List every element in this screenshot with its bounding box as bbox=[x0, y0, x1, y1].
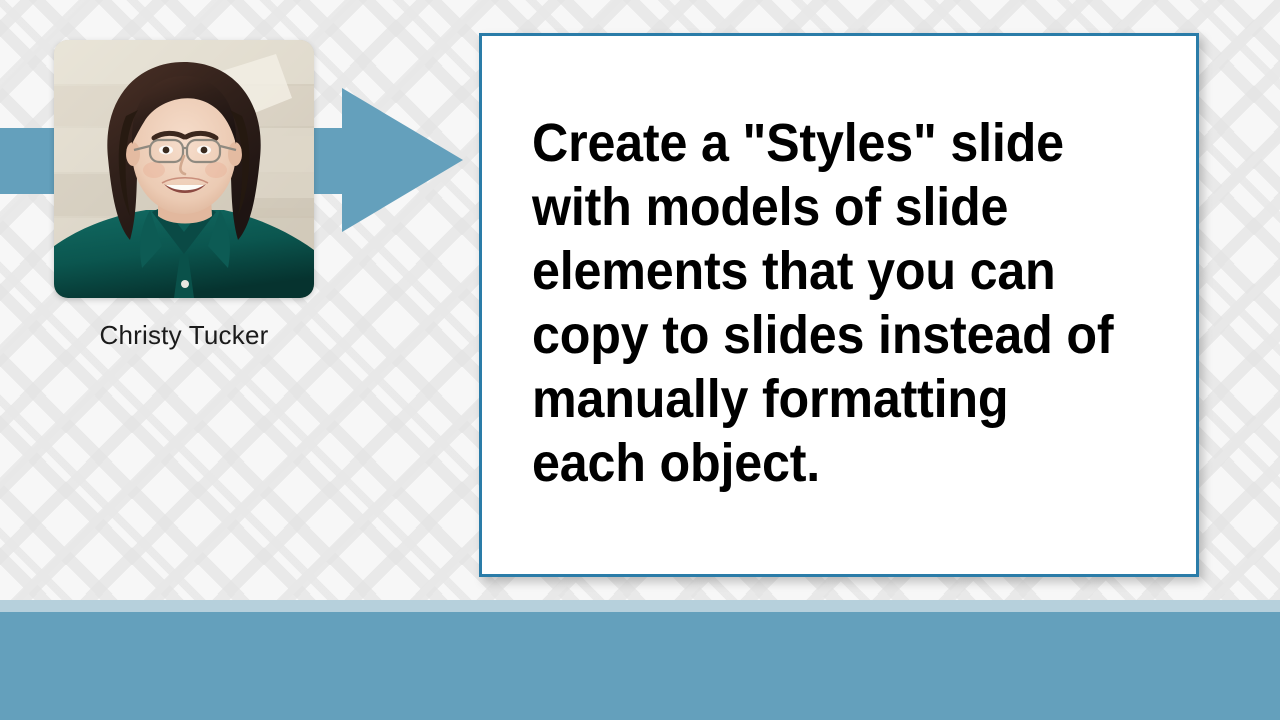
portrait-illustration bbox=[54, 40, 314, 298]
speaker-name: Christy Tucker bbox=[54, 320, 314, 351]
quote-card: Create a "Styles" slide with models of s… bbox=[479, 33, 1199, 577]
footer-accent-strip bbox=[0, 600, 1280, 612]
footer-bar: eLearning Art bbox=[0, 612, 1280, 720]
quote-text: Create a "Styles" slide with models of s… bbox=[532, 111, 1132, 495]
slide-canvas: Christy Tucker Create a "Styles" slide w… bbox=[0, 0, 1280, 720]
speaker-photo bbox=[54, 40, 314, 298]
